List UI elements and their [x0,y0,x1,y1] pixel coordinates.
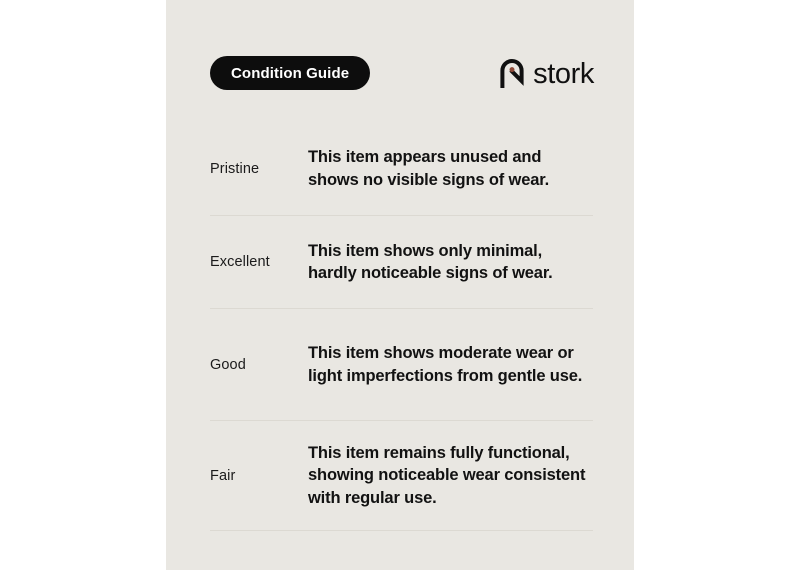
brand-lockup: stork [499,53,594,93]
table-bottom-divider [210,530,593,531]
condition-description: This item shows moderate wear or light i… [308,342,593,387]
stork-arch-logo-icon [499,58,525,88]
condition-description: This item remains fully functional, show… [308,442,593,509]
table-row: Good This item shows moderate wear or li… [210,308,593,420]
table-row: Excellent This item shows only minimal, … [210,215,593,308]
condition-guide-table: Pristine This item appears unused and sh… [210,122,593,531]
condition-label: Pristine [210,161,308,177]
condition-guide-card: Condition Guide stork Pristine This item… [166,0,634,570]
condition-description: This item appears unused and shows no vi… [308,146,593,191]
table-row: Pristine This item appears unused and sh… [210,122,593,215]
table-row: Fair This item remains fully functional,… [210,420,593,530]
brand-name: stork [533,60,594,89]
logo-dot-icon [510,67,515,72]
condition-label: Fair [210,468,308,484]
condition-description: This item shows only minimal, hardly not… [308,240,593,285]
page-root: Condition Guide stork Pristine This item… [0,0,800,570]
condition-label: Good [210,357,308,373]
condition-guide-badge: Condition Guide [210,56,370,90]
card-header: Condition Guide stork [166,0,634,122]
condition-label: Excellent [210,254,308,270]
